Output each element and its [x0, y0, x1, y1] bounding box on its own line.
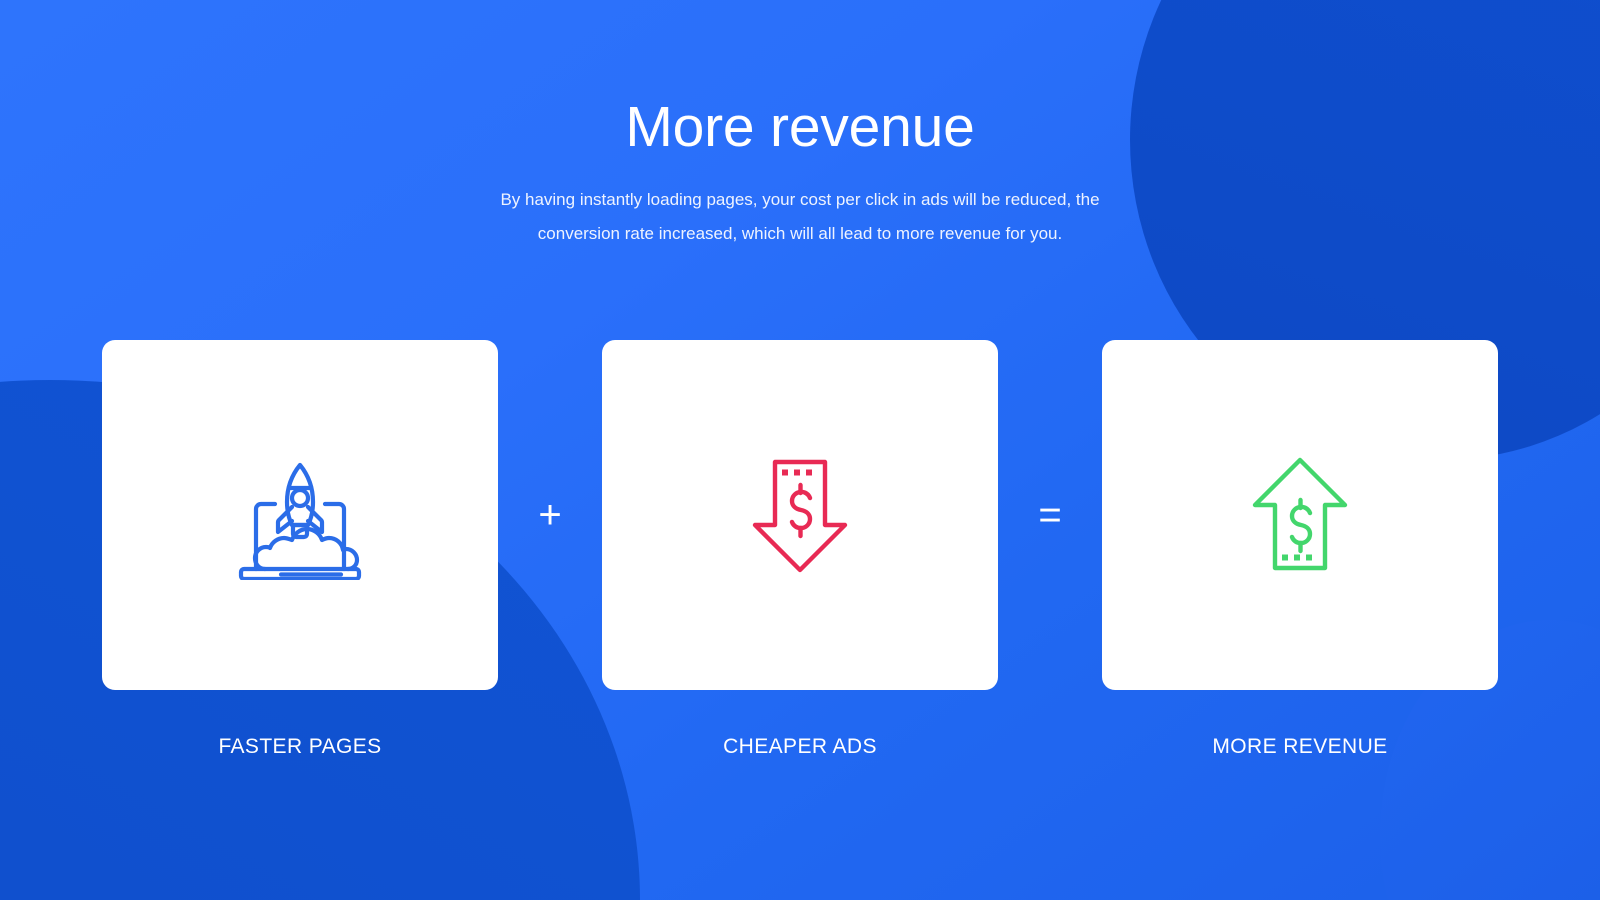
header-section: More revenue By having instantly loading… [0, 96, 1600, 251]
label-gap-2 [1005, 735, 1095, 759]
card-label-more-revenue: MORE REVENUE [1102, 735, 1498, 759]
card-cheaper-ads[interactable] [602, 340, 998, 690]
card-label-faster-pages: FASTER PAGES [102, 735, 498, 759]
page-subtitle: By having instantly loading pages, your … [450, 183, 1150, 251]
page-title: More revenue [0, 96, 1600, 159]
arrow-down-dollar-icon [735, 450, 865, 580]
arrow-up-dollar-icon [1235, 450, 1365, 580]
equation-row: + = [102, 340, 1498, 690]
card-faster-pages[interactable] [102, 340, 498, 690]
card-labels-row: FASTER PAGES CHEAPER ADS MORE REVENUE [102, 735, 1498, 759]
card-more-revenue[interactable] [1102, 340, 1498, 690]
operator-plus: + [505, 495, 595, 535]
page-root: More revenue By having instantly loading… [0, 0, 1600, 900]
card-label-cheaper-ads: CHEAPER ADS [602, 735, 998, 759]
operator-equals: = [1005, 495, 1095, 535]
subtitle-line-1: By having instantly loading pages, your … [450, 183, 1150, 217]
rocket-laptop-icon [235, 450, 365, 580]
label-gap-1 [505, 735, 595, 759]
subtitle-line-2: conversion rate increased, which will al… [450, 217, 1150, 251]
